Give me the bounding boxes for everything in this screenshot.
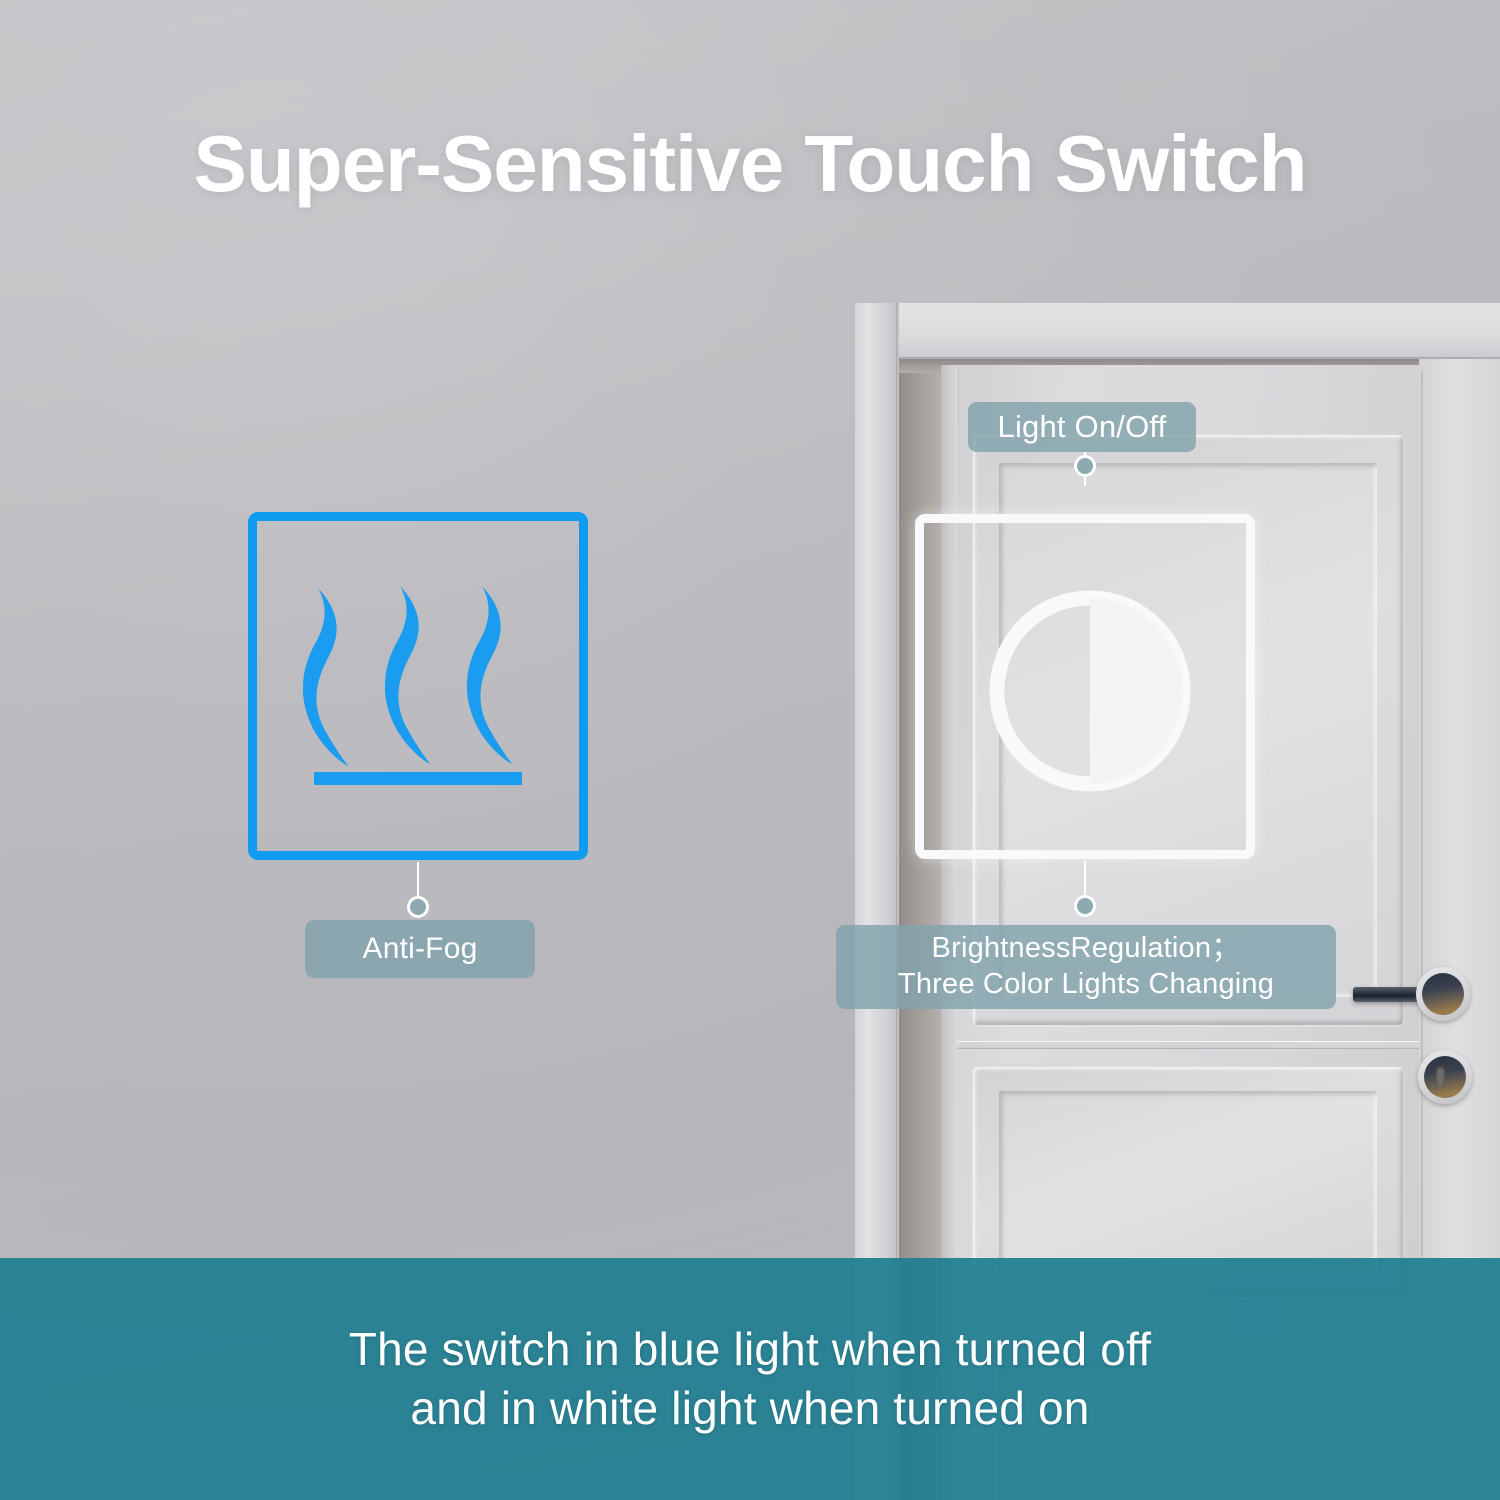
callout-light-on-off[interactable]: Light On/Off (968, 402, 1196, 452)
rosette-core (1422, 973, 1464, 1015)
door-keyhole-escutcheon[interactable] (1418, 1050, 1472, 1104)
steam-waves-icon (296, 580, 540, 810)
page-title: Super-Sensitive Touch Switch (0, 118, 1500, 210)
callout-anti-fog[interactable]: Anti-Fog (305, 920, 535, 978)
product-feature-graphic: Super-Sensitive Touch Switch Anti-Fog Li… (0, 0, 1500, 1500)
door-panel-middle-inner (999, 1091, 1377, 1273)
bottom-banner: The switch in blue light when turned off… (0, 1258, 1500, 1500)
banner-caption: The switch in blue light when turned off… (349, 1320, 1151, 1438)
brightness-half-circle-icon (985, 585, 1195, 797)
door-head-casing (863, 303, 1500, 359)
door-rail-middle (957, 1041, 1419, 1049)
anti-fog-leader-dot (407, 896, 429, 918)
escutcheon-core (1424, 1056, 1466, 1098)
brightness-leader-dot (1074, 895, 1096, 917)
light-on-off-leader-dot (1074, 455, 1096, 477)
keyhole-icon (1436, 1066, 1445, 1088)
door-handle-rosette[interactable] (1416, 967, 1470, 1021)
callout-brightness-regulation[interactable]: BrightnessRegulation； Three Color Lights… (836, 925, 1336, 1009)
